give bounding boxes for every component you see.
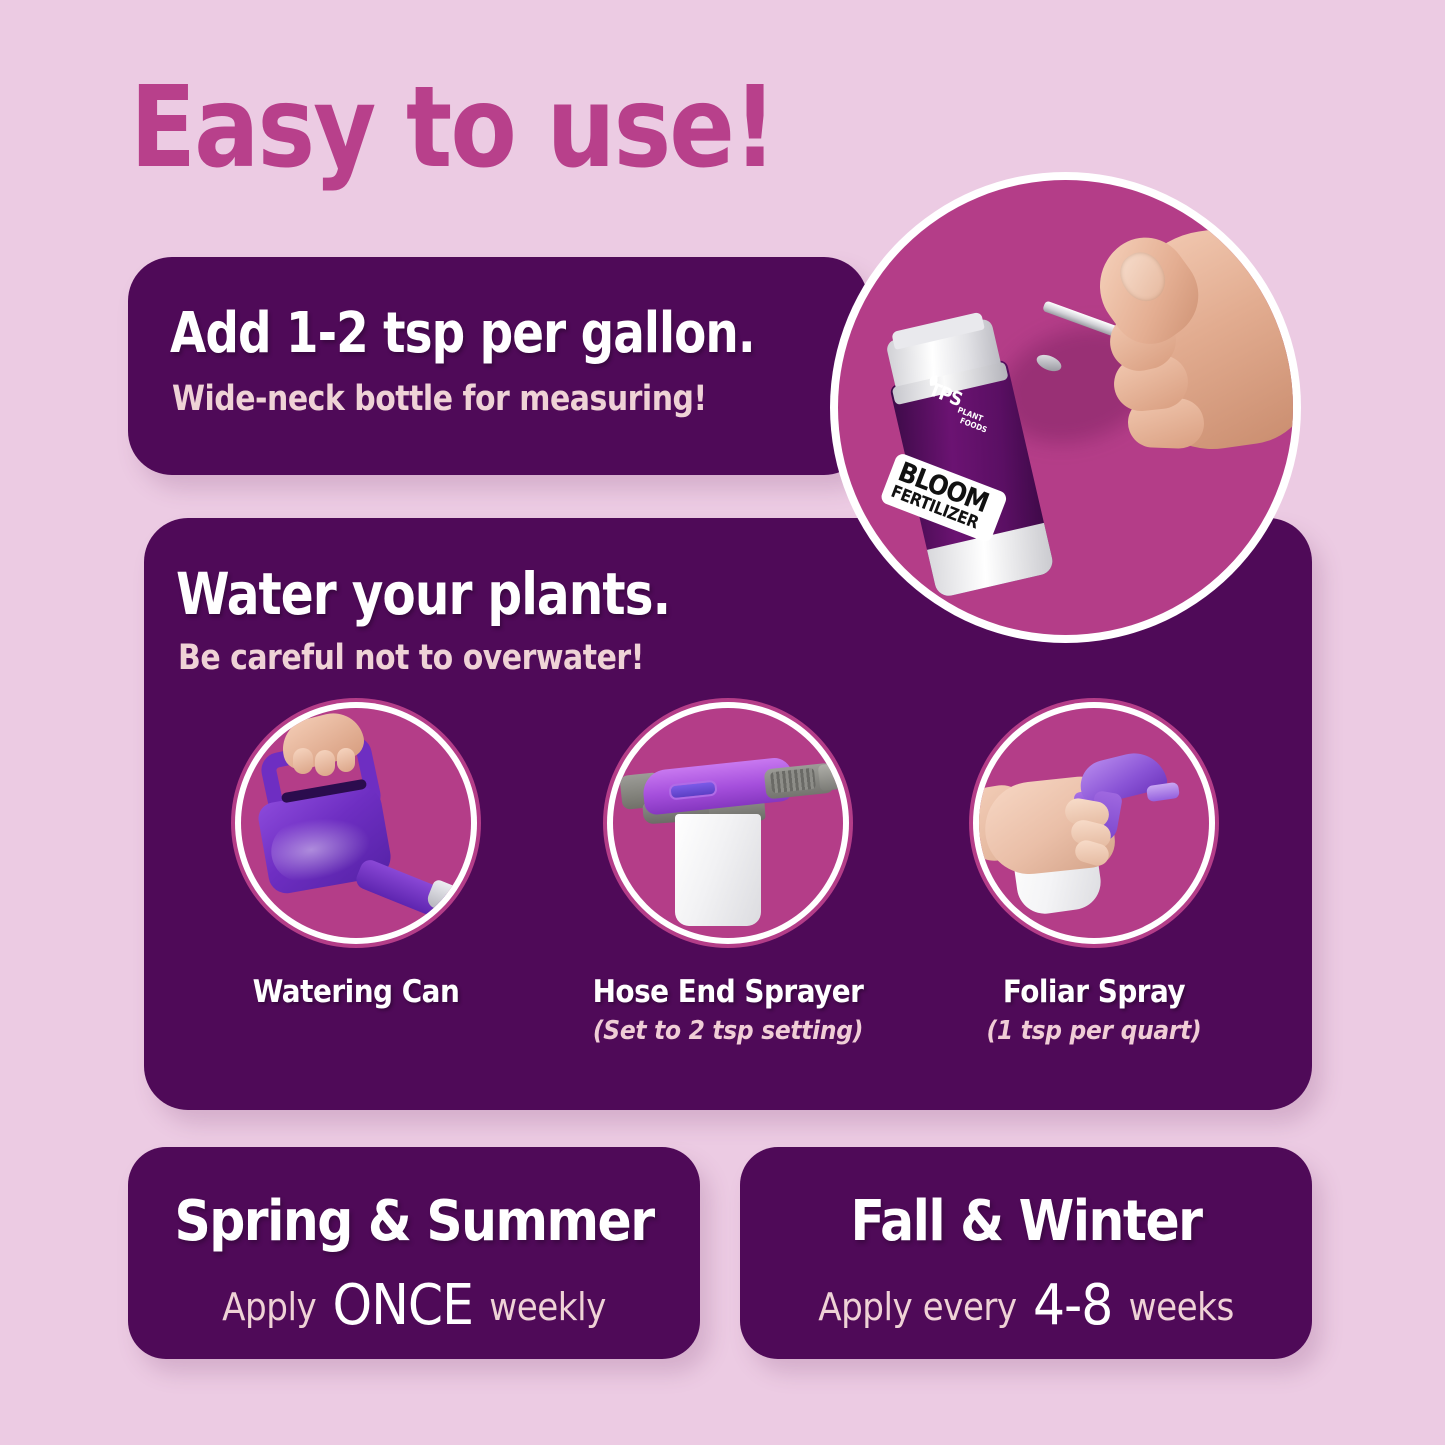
frequency-emphasis: ONCE (327, 1273, 479, 1338)
method-watering-can: Watering Can (196, 708, 516, 1016)
frequency-emphasis: 4-8 (1027, 1273, 1118, 1338)
infographic-canvas: Easy to use! Add 1-2 tsp per gallon. Wid… (0, 0, 1445, 1445)
foliar-spray-illustration (979, 708, 1209, 938)
hand-holding-spoon (1084, 216, 1293, 476)
watering-heading: Water your plants. (176, 560, 670, 628)
method-note: (1 tsp per quart) (934, 1016, 1254, 1046)
frequency-suffix: weeks (1129, 1285, 1234, 1329)
method-label: Hose End Sprayer (568, 974, 888, 1010)
finger (315, 750, 335, 776)
frequency-prefix: Apply (222, 1285, 316, 1329)
method-hose-end-sprayer: Hose End Sprayer (Set to 2 tsp setting) (568, 708, 888, 1046)
watering-subtext: Be careful not to overwater! (178, 638, 644, 678)
finger (337, 748, 355, 772)
finger (293, 748, 313, 774)
watering-can-circle (241, 708, 471, 938)
season-heading: Spring & Summer (128, 1189, 700, 1254)
hose-end-sprayer-illustration (613, 708, 843, 938)
watering-can-illustration (241, 708, 471, 938)
sprayer-tip (818, 763, 843, 791)
foliar-spray-circle (979, 708, 1209, 938)
dosage-heading: Add 1-2 tsp per gallon. (170, 301, 755, 366)
spray-nozzle (1146, 782, 1180, 802)
dosage-card: Add 1-2 tsp per gallon. Wide-neck bottle… (128, 257, 868, 475)
frequency-suffix: weekly (489, 1285, 606, 1329)
method-foliar-spray: Foliar Spray (1 tsp per quart) (934, 708, 1254, 1046)
frequency-prefix: Apply every (818, 1285, 1016, 1329)
sprayer-reservoir (675, 814, 761, 926)
method-label: Foliar Spray (934, 974, 1254, 1010)
season-frequency: Apply ONCE weekly (128, 1273, 700, 1338)
hose-end-sprayer-circle (613, 708, 843, 938)
season-frequency: Apply every 4-8 weeks (740, 1273, 1312, 1338)
dosage-subtext: Wide-neck bottle for measuring! (172, 379, 707, 419)
page-title: Easy to use! (130, 72, 775, 184)
method-note: (Set to 2 tsp setting) (568, 1016, 888, 1046)
method-label: Watering Can (196, 974, 516, 1010)
hero-product-circle: TPS PLANT FOODS BLOOM FERTILIZER (838, 180, 1293, 635)
spring-summer-card: Spring & Summer Apply ONCE weekly (128, 1147, 700, 1359)
season-heading: Fall & Winter (740, 1189, 1312, 1254)
hero-illustration: TPS PLANT FOODS BLOOM FERTILIZER (838, 180, 1293, 635)
watering-methods: Watering Can (144, 708, 1312, 1098)
fall-winter-card: Fall & Winter Apply every 4-8 weeks (740, 1147, 1312, 1359)
